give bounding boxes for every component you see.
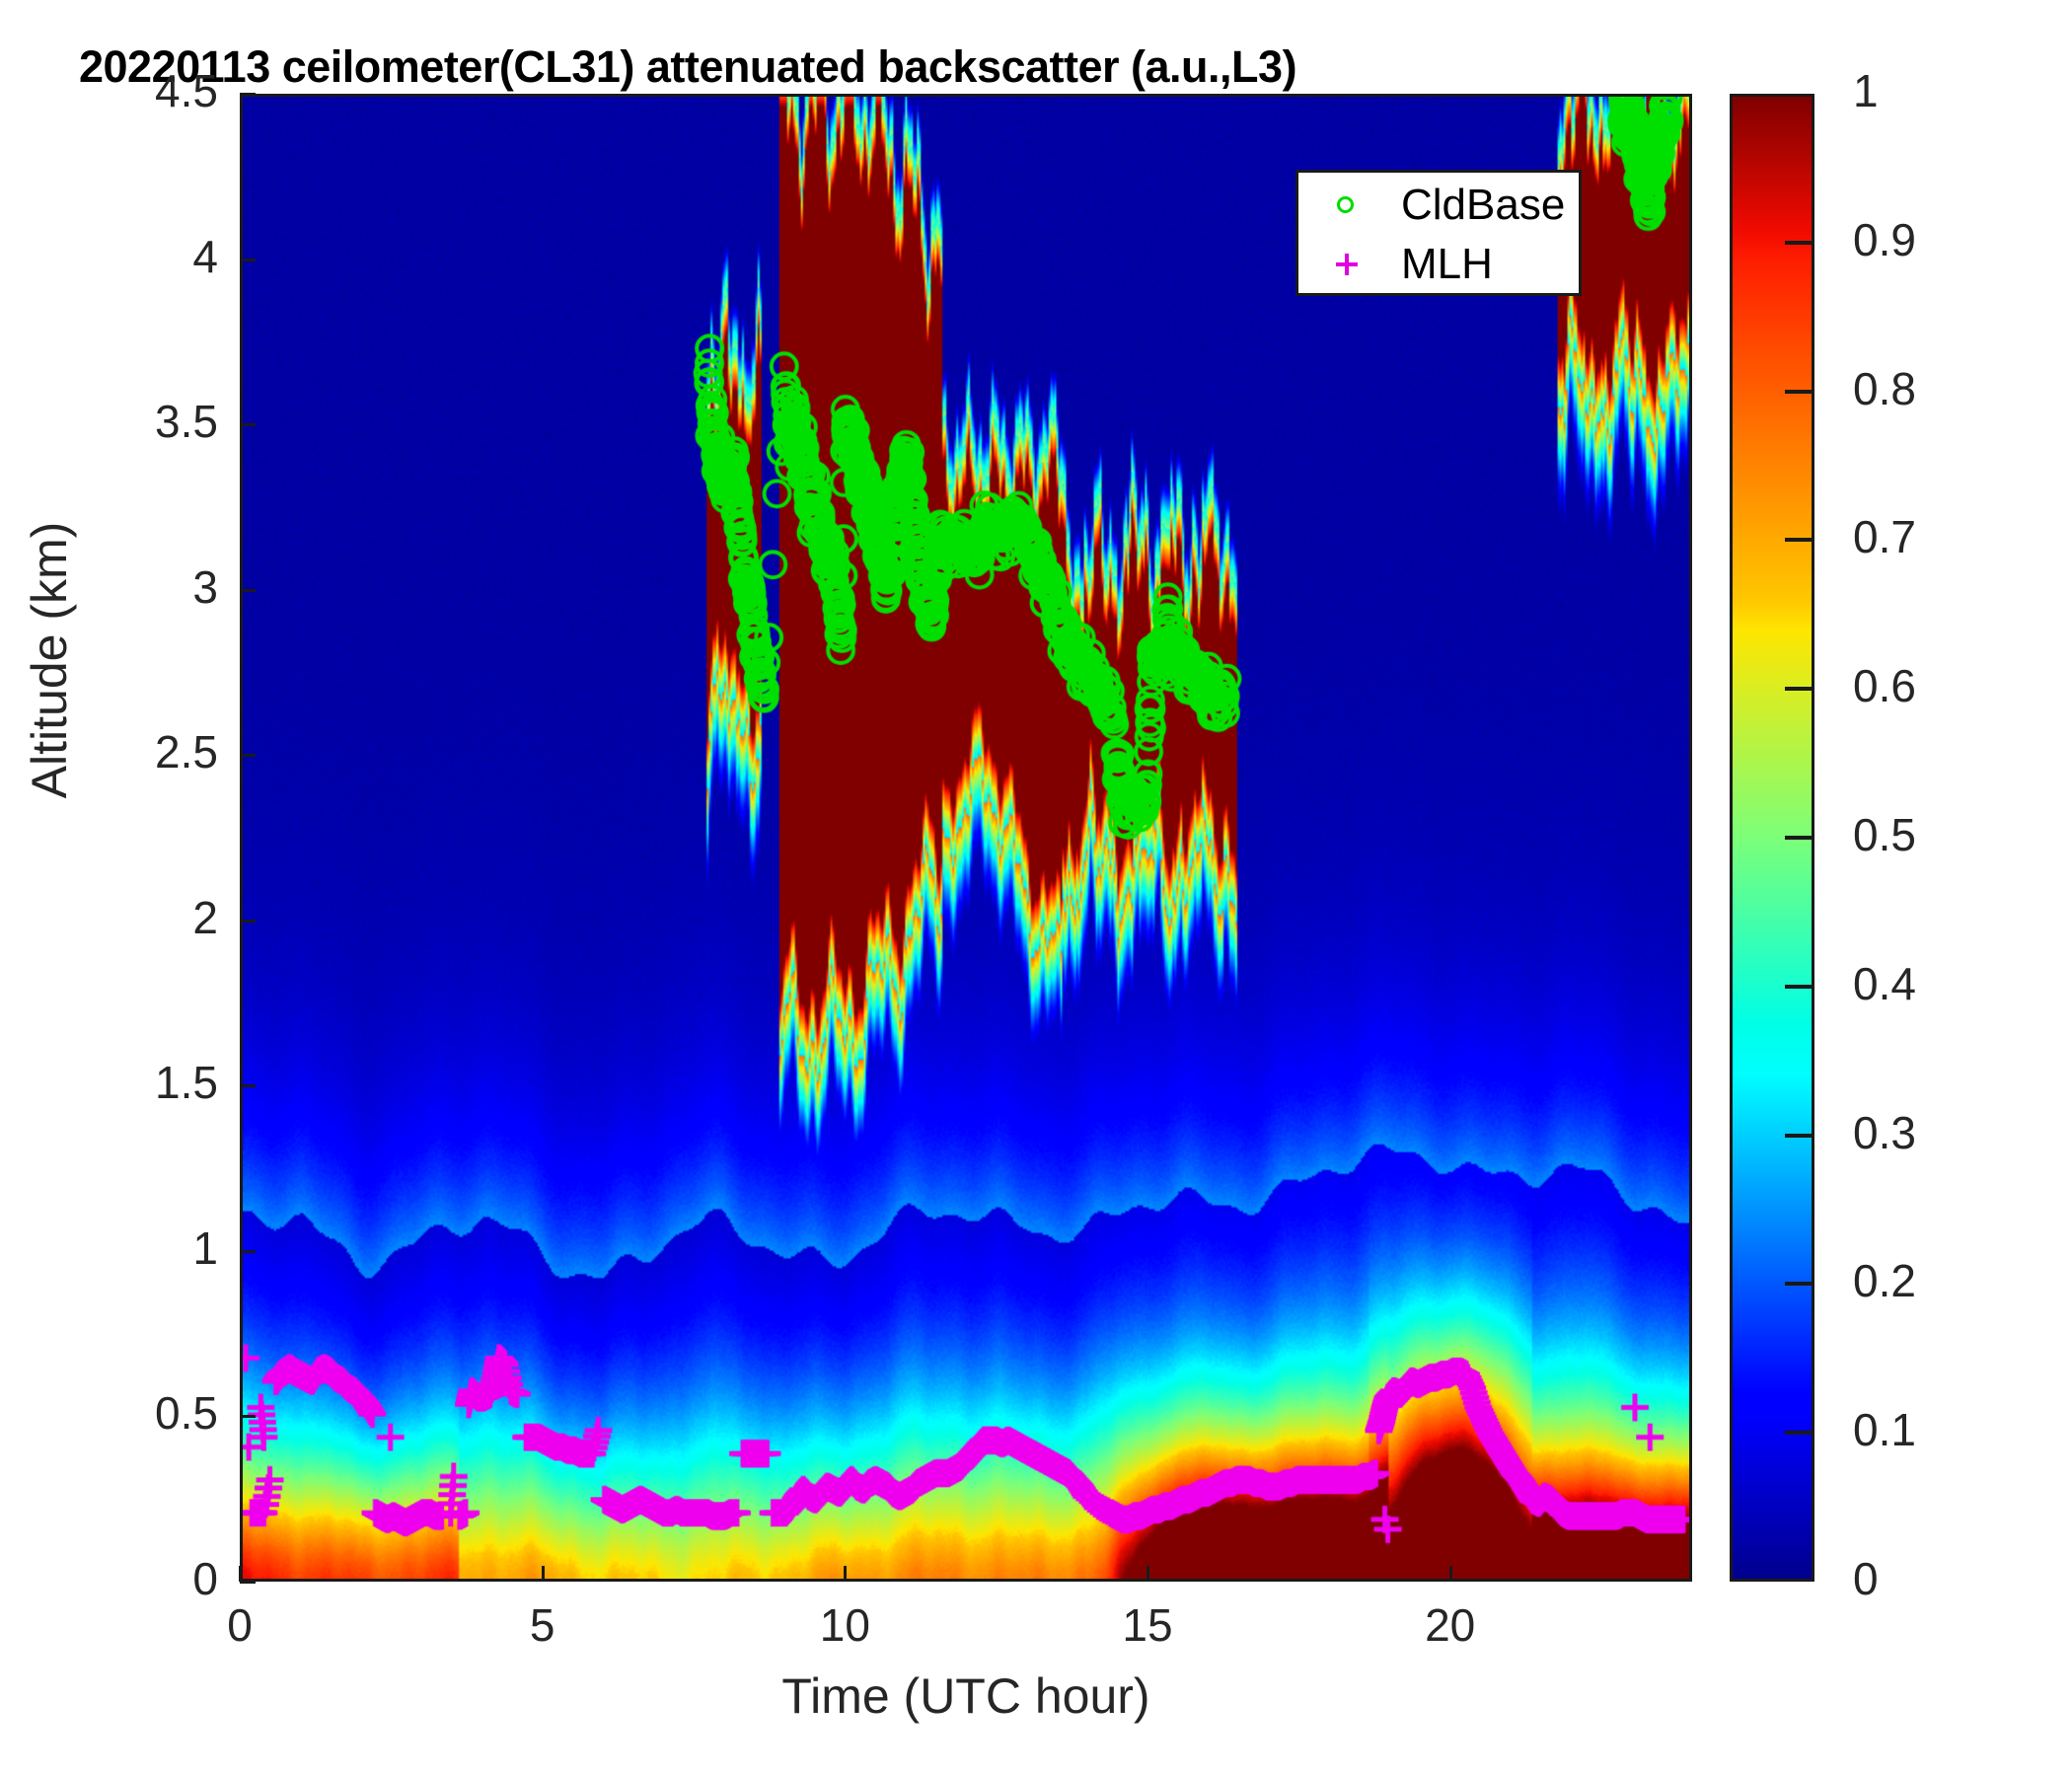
colorbar-tick-label: 0.6 <box>1853 659 1916 712</box>
y-tick-mark <box>240 1084 256 1087</box>
colorbar-tick-label: 0.1 <box>1853 1403 1916 1456</box>
y-tick-label: 0 <box>192 1552 218 1605</box>
y-tick-mark <box>240 754 256 757</box>
y-tick-mark <box>240 423 256 426</box>
colorbar-tick-label: 0.5 <box>1853 808 1916 861</box>
colorbar-tick-mark <box>1785 687 1812 691</box>
y-tick-mark <box>240 589 256 592</box>
y-tick-label: 3.5 <box>155 395 218 448</box>
x-tick-label: 15 <box>1103 1598 1192 1652</box>
y-tick-label: 4 <box>192 230 218 283</box>
ceilometer-backscatter-figure: 20220113 ceilometer(CL31) attenuated bac… <box>0 0 2072 1776</box>
y-tick-label: 2 <box>192 891 218 944</box>
circle-marker-icon <box>1332 190 1362 220</box>
x-tick-label: 10 <box>800 1598 889 1652</box>
colorbar-tick-mark <box>1785 1134 1812 1138</box>
page-title: 20220113 ceilometer(CL31) attenuated bac… <box>79 41 1296 93</box>
y-tick-label: 1.5 <box>155 1056 218 1109</box>
y-tick-mark <box>240 1415 256 1418</box>
x-axis-label: Time (UTC hour) <box>240 1667 1692 1725</box>
y-tick-mark <box>240 1250 256 1253</box>
y-axis-label: Altitude (km) <box>21 404 78 917</box>
x-tick-mark <box>239 1566 242 1582</box>
x-tick-mark <box>844 1566 847 1582</box>
colorbar-tick-mark <box>1785 538 1812 542</box>
marker-overlay <box>243 97 1689 1579</box>
legend-label-cldbase: CldBase <box>1401 181 1565 230</box>
plus-marker-icon <box>1332 250 1362 279</box>
x-tick-label: 5 <box>498 1598 587 1652</box>
colorbar-tick-mark <box>1785 836 1812 840</box>
x-tick-mark <box>542 1566 545 1582</box>
y-tick-mark <box>240 1581 256 1584</box>
x-tick-mark <box>1449 1566 1452 1582</box>
colorbar-tick-label: 0.8 <box>1853 362 1916 415</box>
legend-item-cldbase: CldBase <box>1298 175 1579 236</box>
colorbar-tick-label: 1 <box>1853 64 1879 117</box>
colorbar-tick-mark <box>1785 1431 1812 1435</box>
legend-box: CldBase MLH <box>1295 170 1582 296</box>
colorbar-tick-mark <box>1785 241 1812 245</box>
legend-item-mlh: MLH <box>1298 234 1579 295</box>
y-tick-label: 1 <box>192 1221 218 1275</box>
y-tick-label: 3 <box>192 560 218 614</box>
y-tick-mark <box>240 259 256 261</box>
colorbar-tick-label: 0.2 <box>1853 1254 1916 1307</box>
x-tick-label: 20 <box>1406 1598 1495 1652</box>
x-tick-label: 0 <box>195 1598 284 1652</box>
colorbar-tick-label: 0.4 <box>1853 957 1916 1010</box>
colorbar-tick-mark <box>1785 985 1812 989</box>
colorbar-tick-label: 0.7 <box>1853 510 1916 563</box>
colorbar-tick-mark <box>1785 390 1812 394</box>
x-tick-mark <box>1147 1566 1149 1582</box>
y-tick-label: 4.5 <box>155 64 218 117</box>
legend-label-mlh: MLH <box>1401 240 1493 289</box>
y-tick-label: 2.5 <box>155 725 218 778</box>
plot-axes <box>240 94 1692 1582</box>
colorbar-tick-label: 0.3 <box>1853 1106 1916 1159</box>
colorbar-tick-label: 0 <box>1853 1552 1879 1605</box>
y-tick-label: 0.5 <box>155 1386 218 1440</box>
y-tick-mark <box>240 93 256 96</box>
y-tick-mark <box>240 920 256 923</box>
colorbar-tick-mark <box>1785 1282 1812 1286</box>
colorbar-tick-label: 0.9 <box>1853 213 1916 266</box>
